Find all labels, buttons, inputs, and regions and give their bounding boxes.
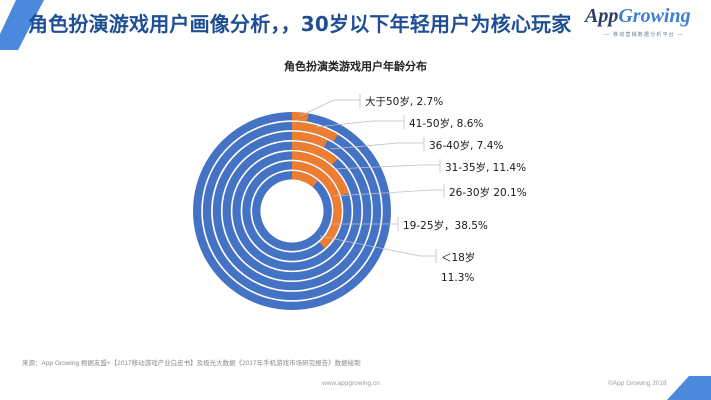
chart-area: 大于50岁, 2.7% 41-50岁, 8.6% 36-40岁, 7.4% 31…: [0, 0, 711, 400]
donut-rings: [193, 112, 391, 310]
data-label-36-40: 36-40岁, 7.4%: [429, 138, 503, 153]
data-label-over-50: 大于50岁, 2.7%: [365, 94, 443, 109]
slide-root: 角色扮演游戏用户画像分析，，30岁以下年轻用户为核心玩家 AppGrowing …: [0, 0, 711, 400]
data-label-31-35: 31-35岁, 11.4%: [445, 160, 526, 175]
footer-website-url: www.appgrowing.cn: [322, 380, 380, 387]
data-label-26-30: 26-30岁 20.1%: [449, 185, 527, 200]
slide-footer: www.appgrowing.cn ©App Growing 2018: [0, 376, 711, 400]
data-label-19-25: 19-25岁，38.5%: [403, 218, 488, 233]
concentric-donut-chart: [0, 0, 711, 400]
ring-remainder-6: [252, 171, 332, 251]
data-label-41-50: 41-50岁, 8.6%: [409, 116, 483, 131]
source-note: 来源：App Growing 根据友盟+【2017移动游戏产业白皮书】及极光大数…: [22, 357, 361, 367]
data-label-under-18: ＜18岁: [441, 250, 475, 265]
footer-copyright: ©App Growing 2018: [608, 380, 667, 387]
data-label-under-18-value: 11.3%: [441, 272, 474, 284]
